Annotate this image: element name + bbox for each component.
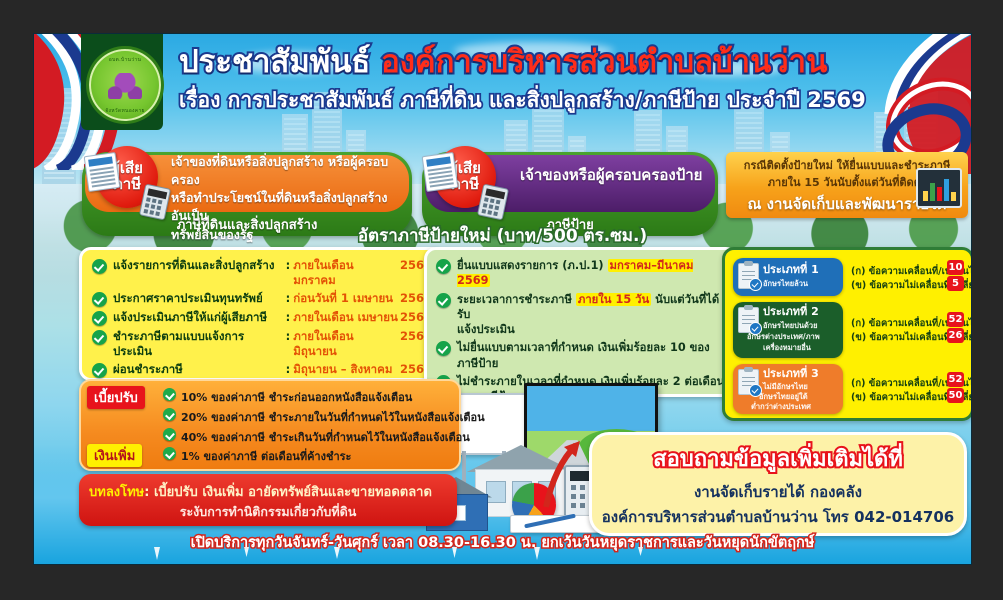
check-icon	[436, 293, 451, 308]
land-tax-desc-line: หรือทำประโยชน์ในที่ดินหรือสิ่งปลูกสร้างอ…	[171, 189, 399, 225]
separator: :	[283, 329, 294, 343]
check-icon	[92, 330, 107, 345]
title-part-red: องค์การบริหารส่วนตำบลบ้านว่าน	[381, 44, 827, 80]
check-icon	[92, 311, 107, 326]
check-icon	[436, 259, 451, 274]
separator: :	[283, 258, 294, 272]
land-schedule-value: มิถุนายน – สิงหาคม	[293, 362, 400, 377]
rate-type-2-row-b-value: 26	[947, 328, 964, 343]
sign-schedule-row: ระยะเวลาการชำระภาษี ภายใน 15 วัน นับแต่ว…	[436, 292, 726, 338]
sign-schedule-highlight: ภายใน 15 วัน	[576, 293, 651, 306]
rate-type-1-name: ประเภทที่ 1	[763, 264, 819, 277]
sign-schedule-text: ยื่นแบบแสดงรายการ (ภ.ป.1) มกราคม–มีนาคม …	[457, 258, 726, 289]
land-schedule-row: ชำระภาษีตามแบบแจ้งการประเมิน : ภายในเดือ…	[92, 329, 432, 359]
page-subtitle: เรื่อง การประชาสัมพันธ์ ภาษีที่ดิน และสิ…	[179, 84, 819, 117]
punishment-line1-text: : เบี้ยปรับ เงินเพิ่ม อายัดทรัพย์สินและข…	[144, 485, 432, 500]
rate-type-3-detail-line: อักษรไทยอยู่ใต้	[759, 392, 808, 401]
land-schedule-label: แจ้งรายการที่ดินและสิ่งปลูกสร้าง	[113, 258, 283, 273]
land-schedule-row: ประกาศราคาประเมินทุนทรัพย์ : ก่อนวันที่ …	[92, 291, 432, 307]
page-title: ประชาสัมพันธ์ องค์การบริหารส่วนตำบลบ้านว…	[179, 46, 819, 117]
rate-type-3-row-a-value: 52	[947, 372, 964, 387]
land-schedule-label: แจ้งประเมินภาษีให้แก่ผู้เสียภาษี	[113, 310, 283, 325]
rate-type-1-row-a-value: 10	[947, 260, 964, 275]
sign-schedule-row: ไม่ยื่นแบบตามเวลาที่กำหนด เงินเพิ่มร้อยล…	[436, 340, 726, 371]
seal-top-text: อบต.บ้านว่าน	[89, 56, 161, 64]
seal-emblem: อบต.บ้านว่าน จังหวัดหนองคาย	[86, 46, 164, 124]
rate-type-3-row-b-value: 50	[947, 388, 964, 403]
penalty-fine-row: 10% ของค่าภาษี ชำระก่อนออกหนังสือแจ้งเตื…	[181, 388, 412, 406]
rate-type-2-row-a-value: 52	[947, 312, 964, 327]
sign-schedule-cont: แจ้งประเมิน	[457, 322, 726, 337]
document-icon	[84, 152, 121, 192]
separator: :	[283, 310, 294, 324]
check-icon	[163, 428, 176, 441]
land-schedule-row: แจ้งประเมินภาษีให้แก่ผู้เสียภาษี : ภายใน…	[92, 310, 432, 326]
land-schedule-value: ภายในเดือน มิถุนายน	[293, 329, 400, 359]
verified-check-icon	[749, 278, 762, 291]
growth-arrow-icon	[536, 439, 582, 513]
icicle-decoration	[34, 546, 971, 558]
land-schedule-row: แจ้งรายการที่ดินและสิ่งปลูกสร้าง : ภายใน…	[92, 258, 432, 288]
check-icon	[163, 388, 176, 401]
land-tax-desc-line: เจ้าของที่ดินหรือสิ่งปลูกสร้าง หรือผู้คร…	[171, 153, 399, 189]
penalty-fine-tag: เบี้ยปรับ	[87, 386, 145, 409]
bar-chart-monitor-icon	[916, 168, 962, 208]
sign-schedule-text: ไม่ยื่นแบบตามเวลาที่กำหนด เงินเพิ่มร้อยล…	[457, 340, 726, 371]
land-schedule-value: ภายในเดือน เมษายน	[293, 310, 400, 325]
land-schedule-value: ภายในเดือน มกราคม	[293, 258, 400, 288]
title-part-white: ประชาสัมพันธ์	[179, 44, 381, 80]
rate-type-2-name: ประเภทที่ 2	[763, 306, 819, 319]
rate-type-3-detail-line: ไม่มีอักษรไทย	[763, 382, 808, 391]
rate-type-1-tile: ประเภทที่ 1 อักษรไทยล้วน	[733, 258, 843, 296]
rate-type-2-tile: ประเภทที่ 2 อักษรไทยปนด้วย อักษรต่างประเ…	[733, 302, 843, 358]
document-icon	[422, 152, 459, 192]
land-schedule-value: ก่อนวันที่ 1 เมษายน	[293, 291, 400, 306]
sign-schedule-pre: ยื่นแบบแสดงรายการ (ภ.ป.1)	[457, 259, 608, 272]
sign-tax-description: เจ้าของหรือผู้ครอบครองป้าย	[520, 165, 720, 187]
separator: :	[283, 291, 294, 305]
penalty-panel: เบี้ยปรับ 10% ของค่าภาษี ชำระก่อนออกหนัง…	[79, 379, 461, 471]
penalty-surcharge-row: 1% ของค่าภาษี ต่อเดือนที่ค้างชำระ	[181, 447, 351, 465]
rate-type-2-detail-line: เครื่องหมายอื่น	[763, 343, 811, 352]
land-schedule-row: ผ่อนชำระภาษี : มิถุนายน – สิงหาคม 2569	[92, 362, 432, 378]
rate-type-3-detail-line: ต่ำกว่าต่างประเทศ	[751, 402, 811, 411]
sign-schedule-pre: ระยะเวลาการชำระภาษี	[457, 293, 576, 306]
seal-bottom-text: จังหวัดหนองคาย	[89, 107, 161, 115]
contact-panel: สอบถามข้อมูลเพิ่มเติมได้ที่ งานจัดเก็บรา…	[589, 432, 967, 536]
rate-type-3-name: ประเภทที่ 3	[763, 368, 819, 381]
check-icon	[163, 408, 176, 421]
punishment-tag: บทลงโทษ	[89, 485, 144, 500]
organization-seal: อบต.บ้านว่าน จังหวัดหนองคาย	[57, 34, 177, 146]
check-icon	[92, 259, 107, 274]
check-icon	[92, 292, 107, 307]
screenshot-canvas: อบต.บ้านว่าน จังหวัดหนองคาย ประชาสัมพันธ…	[0, 0, 1003, 600]
poster: อบต.บ้านว่าน จังหวัดหนองคาย ประชาสัมพันธ…	[33, 33, 972, 565]
penalty-fine-row: 20% ของค่าภาษี ชำระภายในวันที่กำหนดไว้ใน…	[181, 408, 485, 426]
land-schedule-label: ชำระภาษีตามแบบแจ้งการประเมิน	[113, 329, 283, 359]
check-icon	[436, 341, 451, 356]
rate-type-1-row-b-value: 5	[947, 276, 964, 291]
rate-table-title: อัตราภาษีป้ายใหม่ (บาท/500 ตร.ซม.)	[34, 222, 971, 249]
land-schedule-label: ประกาศราคาประเมินทุนทรัพย์	[113, 291, 283, 306]
penalty-fine-row: 40% ของค่าภาษี ชำระเกินวันที่กำหนดไว้ในห…	[181, 428, 470, 446]
land-schedule-panel: แจ้งรายการที่ดินและสิ่งปลูกสร้าง : ภายใน…	[79, 247, 445, 381]
temple-icon	[108, 73, 142, 99]
sign-schedule-text: ระยะเวลาการชำระภาษี ภายใน 15 วัน นับแต่ว…	[457, 292, 726, 338]
rate-type-2-detail-line: อักษรไทยปนด้วย	[763, 321, 818, 330]
punishment-panel: บทลงโทษ: เบี้ยปรับ เงินเพิ่ม อายัดทรัพย์…	[79, 474, 457, 526]
punishment-line2: ระงับการทำนิติกรรมเกี่ยวกับที่ดิน	[79, 502, 457, 522]
sign-schedule-panel: ยื่นแบบแสดงรายการ (ภ.ป.1) มกราคม–มีนาคม …	[424, 247, 738, 397]
rate-table-panel: ประเภทที่ 1 อักษรไทยล้วน (ก) ข้อความเคลื…	[722, 247, 972, 421]
contact-line1: งานจัดเก็บรายได้ กองคลัง	[592, 480, 964, 504]
contact-line2: องค์การบริหารส่วนตำบลบ้านว่าน โทร 042-01…	[592, 505, 964, 529]
penalty-surcharge-tag: เงินเพิ่ม	[87, 444, 142, 467]
separator: :	[283, 362, 294, 376]
rate-type-3-tile: ประเภทที่ 3 ไม่มีอักษรไทย อักษรไทยอยู่ใต…	[733, 364, 843, 414]
check-icon	[92, 363, 107, 378]
land-schedule-label: ผ่อนชำระภาษี	[113, 362, 283, 377]
sign-schedule-row: ยื่นแบบแสดงรายการ (ภ.ป.1) มกราคม–มีนาคม …	[436, 258, 726, 289]
rate-type-1-detail: อักษรไทยล้วน	[763, 279, 808, 288]
new-sign-note: กรณีติดตั้งป้ายใหม่ ให้ยื่นแบบและชำระภาษ…	[726, 152, 968, 218]
punishment-line1: บทลงโทษ: เบี้ยปรับ เงินเพิ่ม อายัดทรัพย์…	[89, 481, 432, 502]
check-icon	[163, 447, 176, 460]
rate-type-2-detail-line: อักษรต่างประเทศ/ภาพ	[747, 332, 820, 341]
contact-title: สอบถามข้อมูลเพิ่มเติมได้ที่	[592, 441, 964, 476]
